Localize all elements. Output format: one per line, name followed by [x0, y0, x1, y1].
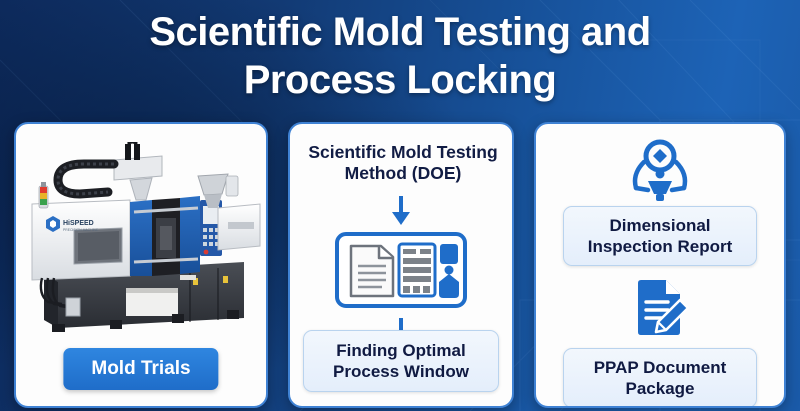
mid-card-title-line-1: Scientific Mold Testing	[308, 142, 497, 162]
injection-molding-machine-illustration: HiSPEED PRECISION MACHINE	[22, 142, 264, 342]
mold-trials-button[interactable]: Mold Trials	[63, 348, 218, 390]
ppap-label-line-2: Package	[626, 379, 695, 398]
ppap-label-line-1: PPAP Document	[594, 358, 727, 377]
document-analysis-icon	[335, 232, 467, 313]
page-title-line-1: Scientific Mold Testing and	[149, 10, 650, 54]
outcome-line-1: Finding Optimal	[336, 341, 465, 360]
card-mold-trials: HiSPEED PRECISION MACHINE	[14, 122, 268, 408]
outcome-line-2: Process Window	[333, 362, 469, 381]
svg-text:PRECISION MACHINE: PRECISION MACHINE	[63, 228, 99, 232]
finding-optimal-process-window-box[interactable]: Finding Optimal Process Window	[303, 330, 499, 392]
dimensional-inspection-report-box[interactable]: Dimensional Inspection Report	[563, 206, 757, 266]
arrow-down-icon	[390, 196, 412, 226]
mid-card-title: Scientific Mold Testing Method (DOE)	[296, 142, 510, 184]
mid-card-title-line-2: Method (DOE)	[345, 163, 462, 183]
inspect-label-line-2: Inspection Report	[588, 237, 733, 256]
document-edit-icon	[628, 276, 692, 343]
dimensional-measurement-icon	[622, 138, 698, 207]
page-title: Scientific Mold Testing and Process Lock…	[0, 8, 800, 104]
ppap-document-package-box[interactable]: PPAP Document Package	[563, 348, 757, 408]
page-title-line-2: Process Locking	[0, 56, 800, 104]
infographic-canvas: Scientific Mold Testing and Process Lock…	[0, 0, 800, 411]
svg-text:HiSPEED: HiSPEED	[63, 220, 94, 227]
injection-molding-machine-image: HiSPEED PRECISION MACHINE	[22, 142, 264, 342]
card-scientific-mold-testing: Scientific Mold Testing Method (DOE)	[288, 122, 514, 408]
card-deliverables: Dimensional Inspection Report PPAP Docum…	[534, 122, 786, 408]
inspect-label-line-1: Dimensional	[609, 216, 710, 235]
